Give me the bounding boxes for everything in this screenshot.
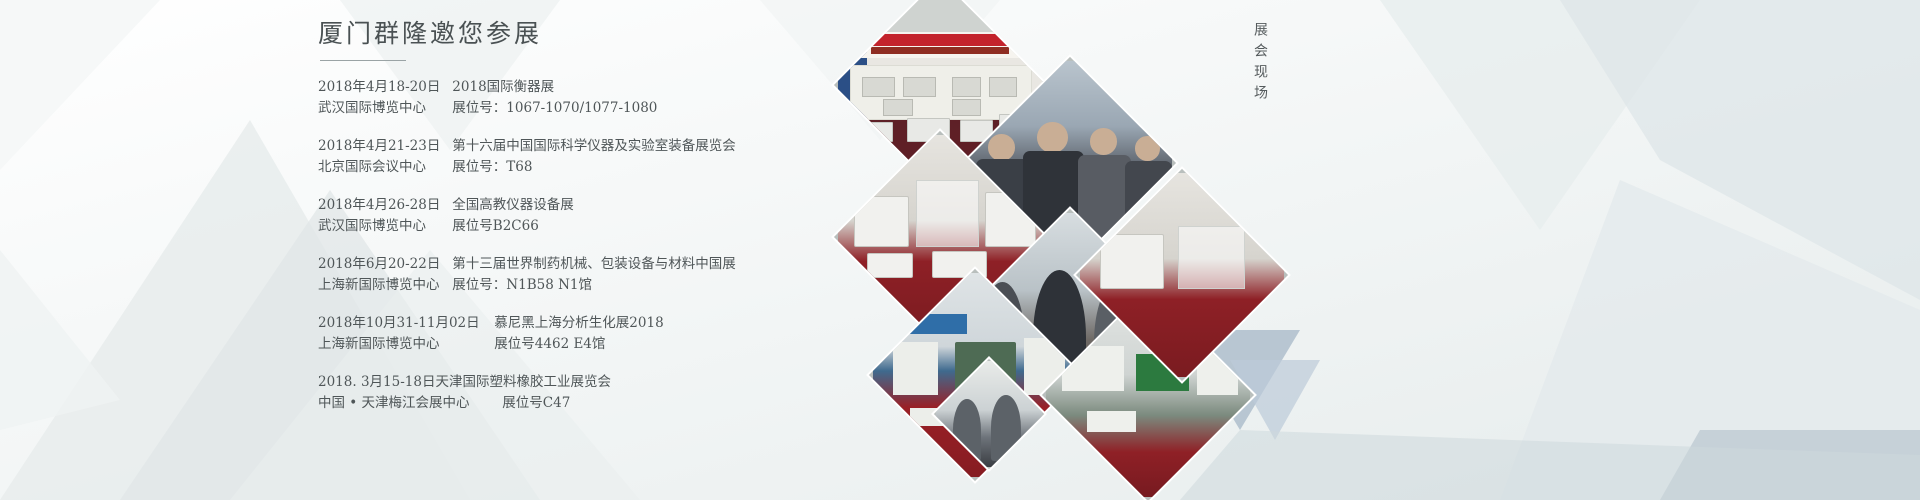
entry-booth: 展位号：T68 bbox=[452, 157, 532, 178]
exhibition-text-column: 厦门群隆邀您参展 2018年4月18-20日 2018国际衡器展 武汉国际博览中… bbox=[318, 18, 878, 431]
entry-date: 2018年10月31-11月02日 bbox=[318, 313, 490, 334]
page-title: 厦门群隆邀您参展 bbox=[318, 18, 878, 51]
entry-booth: 展位号：N1B58 N1馆 bbox=[452, 275, 592, 296]
entry-venue: 上海新国际博览中心 bbox=[318, 275, 448, 296]
entry-date-name-row: 2018年6月20-22日 第十三届世界制药机械、包装设备与材料中国展 bbox=[318, 254, 878, 275]
exhibition-entry: 2018年10月31-11月02日 慕尼黑上海分析生化展2018 上海新国际博览… bbox=[318, 313, 878, 355]
exhibition-entry: 2018年4月18-20日 2018国际衡器展 武汉国际博览中心 展位号：106… bbox=[318, 77, 878, 119]
entry-booth: 展位号4462 E4馆 bbox=[494, 334, 605, 355]
entry-date: 2018年4月21-23日 bbox=[318, 136, 448, 157]
entry-booth: 展位号B2C66 bbox=[452, 216, 539, 237]
entry-venue-booth-row: 上海新国际博览中心 展位号：N1B58 N1馆 bbox=[318, 275, 878, 296]
exhibition-entry: 2018年6月20-22日 第十三届世界制药机械、包装设备与材料中国展 上海新国… bbox=[318, 254, 878, 296]
entry-venue-booth-row: 北京国际会议中心 展位号：T68 bbox=[318, 157, 878, 178]
exhibition-entry: 2018年4月21-23日 第十六届中国国际科学仪器及实验室装备展览会 北京国际… bbox=[318, 136, 878, 178]
title-underline bbox=[320, 60, 406, 61]
exhibition-banner: 厦门群隆邀您参展 2018年4月18-20日 2018国际衡器展 武汉国际博览中… bbox=[0, 0, 1920, 500]
entry-venue-booth-row: 上海新国际博览中心 展位号4462 E4馆 bbox=[318, 334, 878, 355]
entry-date-name-row: 2018年4月18-20日 2018国际衡器展 bbox=[318, 77, 878, 98]
entry-venue: 上海新国际博览中心 bbox=[318, 334, 490, 355]
entry-venue-booth-row: 武汉国际博览中心 展位号B2C66 bbox=[318, 216, 878, 237]
entry-name: 第十六届中国国际科学仪器及实验室装备展览会 bbox=[452, 136, 736, 157]
collage-vertical-label: 展会现场 bbox=[1250, 22, 1270, 106]
entry-name: 2018国际衡器展 bbox=[452, 77, 554, 98]
entry-venue-booth-row: 武汉国际博览中心 展位号：1067-1070/1077-1080 bbox=[318, 98, 878, 119]
entry-date: 2018. 3月15-18日天津国际塑料橡胶工业展览会 bbox=[318, 372, 611, 393]
entry-venue: 北京国际会议中心 bbox=[318, 157, 448, 178]
exhibition-entry: 2018年4月26-28日 全国高教仪器设备展 武汉国际博览中心 展位号B2C6… bbox=[318, 195, 878, 237]
entry-venue-booth-row: 中国 • 天津梅江会展中心 展位号C47 bbox=[318, 393, 878, 414]
entry-date: 2018年6月20-22日 bbox=[318, 254, 448, 275]
entry-name: 全国高教仪器设备展 bbox=[452, 195, 574, 216]
entry-date-name-row: 2018年4月21-23日 第十六届中国国际科学仪器及实验室装备展览会 bbox=[318, 136, 878, 157]
photo-collage bbox=[845, 0, 1185, 420]
entry-venue: 中国 • 天津梅江会展中心 bbox=[318, 393, 498, 414]
entry-venue: 武汉国际博览中心 bbox=[318, 216, 448, 237]
exhibition-entry: 2018. 3月15-18日天津国际塑料橡胶工业展览会 中国 • 天津梅江会展中… bbox=[318, 372, 878, 414]
entry-name: 第十三届世界制药机械、包装设备与材料中国展 bbox=[452, 254, 736, 275]
entry-date-name-row: 2018年4月26-28日 全国高教仪器设备展 bbox=[318, 195, 878, 216]
entry-date: 2018年4月18-20日 bbox=[318, 77, 448, 98]
entry-name: 慕尼黑上海分析生化展2018 bbox=[494, 313, 663, 334]
entry-date: 2018年4月26-28日 bbox=[318, 195, 448, 216]
entry-booth: 展位号C47 bbox=[502, 393, 570, 414]
entry-booth: 展位号：1067-1070/1077-1080 bbox=[452, 98, 657, 119]
entry-date-name-row: 2018. 3月15-18日天津国际塑料橡胶工业展览会 bbox=[318, 372, 878, 393]
entry-date-name-row: 2018年10月31-11月02日 慕尼黑上海分析生化展2018 bbox=[318, 313, 878, 334]
entry-venue: 武汉国际博览中心 bbox=[318, 98, 448, 119]
